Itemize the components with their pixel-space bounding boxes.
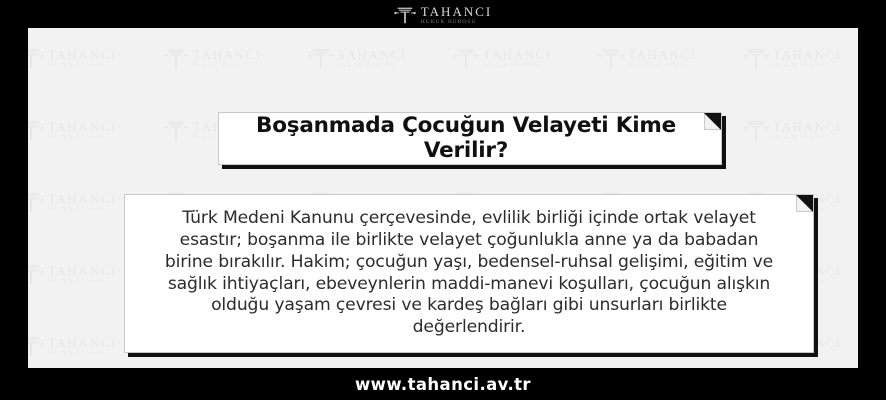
watermark-wordmark: TAHANCIHUKUK BÜROSU bbox=[48, 192, 117, 213]
watermark-subtitle: HUKUK BÜROSU bbox=[483, 63, 552, 69]
watermark-name: TAHANCI bbox=[48, 336, 117, 349]
watermark-subtitle: HUKUK BÜROSU bbox=[628, 63, 697, 69]
law-pillar-icon bbox=[28, 333, 44, 359]
brand-wordmark: TAHANCI HUKUK BÜROSU bbox=[421, 5, 492, 25]
watermark-wordmark: TAHANCIHUKUK BÜROSU bbox=[48, 120, 117, 141]
watermark-subtitle: HUKUK BÜROSU bbox=[48, 63, 117, 69]
brand-subtitle: HUKUK BÜROSU bbox=[421, 20, 477, 26]
law-pillar-icon bbox=[743, 117, 769, 143]
watermark-tile: TAHANCIHUKUK BÜROSU bbox=[28, 45, 163, 71]
watermark-wordmark: TAHANCIHUKUK BÜROSU bbox=[48, 264, 117, 285]
law-pillar-icon bbox=[163, 45, 189, 71]
watermark-tile: TAHANCIHUKUK BÜROSU bbox=[28, 117, 163, 143]
page-fold-triangle-icon bbox=[796, 195, 813, 212]
watermark-subtitle: HUKUK BÜROSU bbox=[338, 63, 407, 69]
watermark-subtitle: HUKUK BÜROSU bbox=[773, 63, 842, 69]
poster-canvas: TAHANCI HUKUK BÜROSU TAHANCIHUKUK BÜROSU… bbox=[0, 0, 886, 400]
watermark-wordmark: TAHANCIHUKUK BÜROSU bbox=[193, 48, 262, 69]
watermark-name: TAHANCI bbox=[48, 192, 117, 205]
law-pillar-icon bbox=[28, 189, 44, 215]
watermark-name: TAHANCI bbox=[48, 48, 117, 61]
watermark-wordmark: TAHANCIHUKUK BÜROSU bbox=[338, 48, 407, 69]
law-pillar-icon bbox=[28, 117, 44, 143]
watermark-subtitle: HUKUK BÜROSU bbox=[48, 279, 117, 285]
watermark-subtitle: HUKUK BÜROSU bbox=[773, 135, 842, 141]
header-bar: TAHANCI HUKUK BÜROSU bbox=[0, 0, 886, 28]
watermark-tile: TAHANCIHUKUK BÜROSU bbox=[598, 45, 743, 71]
law-pillar-icon bbox=[394, 4, 416, 26]
page-fold-triangle-icon bbox=[704, 113, 721, 130]
watermark-name: TAHANCI bbox=[773, 120, 842, 133]
watermark-name: TAHANCI bbox=[48, 264, 117, 277]
website-url: www.tahanci.av.tr bbox=[355, 375, 531, 394]
watermark-subtitle: HUKUK BÜROSU bbox=[48, 135, 117, 141]
watermark-tile: TAHANCIHUKUK BÜROSU bbox=[743, 45, 858, 71]
watermark-subtitle: HUKUK BÜROSU bbox=[193, 63, 262, 69]
content-stage: TAHANCIHUKUK BÜROSUTAHANCIHUKUK BÜROSUTA… bbox=[28, 28, 858, 368]
brand-logo: TAHANCI HUKUK BÜROSU bbox=[394, 4, 492, 26]
law-pillar-icon bbox=[28, 45, 44, 71]
watermark-tile: TAHANCIHUKUK BÜROSU bbox=[308, 45, 453, 71]
watermark-name: TAHANCI bbox=[193, 48, 262, 61]
watermark-wordmark: TAHANCIHUKUK BÜROSU bbox=[48, 48, 117, 69]
watermark-tile: TAHANCIHUKUK BÜROSU bbox=[453, 45, 598, 71]
watermark-name: TAHANCI bbox=[773, 48, 842, 61]
watermark-tile: TAHANCIHUKUK BÜROSU bbox=[163, 45, 308, 71]
watermark-name: TAHANCI bbox=[338, 48, 407, 61]
body-card: Türk Medeni Kanunu çerçevesinde, evlilik… bbox=[124, 194, 814, 353]
watermark-subtitle: HUKUK BÜROSU bbox=[48, 207, 117, 213]
law-pillar-icon bbox=[308, 45, 334, 71]
watermark-wordmark: TAHANCIHUKUK BÜROSU bbox=[773, 120, 842, 141]
footer-bar: www.tahanci.av.tr bbox=[0, 368, 886, 400]
law-pillar-icon bbox=[163, 117, 189, 143]
watermark-name: TAHANCI bbox=[483, 48, 552, 61]
watermark-name: TAHANCI bbox=[628, 48, 697, 61]
watermark-subtitle: HUKUK BÜROSU bbox=[48, 351, 117, 357]
watermark-wordmark: TAHANCIHUKUK BÜROSU bbox=[628, 48, 697, 69]
body-paragraph: Türk Medeni Kanunu çerçevesinde, evlilik… bbox=[125, 208, 813, 339]
page-title: Boşanmada Çocuğun Velayeti Kime Verilir? bbox=[219, 114, 721, 162]
watermark-name: TAHANCI bbox=[48, 120, 117, 133]
law-pillar-icon bbox=[743, 45, 769, 71]
watermark-wordmark: TAHANCIHUKUK BÜROSU bbox=[483, 48, 552, 69]
watermark-tile: TAHANCIHUKUK BÜROSU bbox=[743, 117, 858, 143]
watermark-wordmark: TAHANCIHUKUK BÜROSU bbox=[48, 336, 117, 357]
law-pillar-icon bbox=[28, 261, 44, 287]
title-card: Boşanmada Çocuğun Velayeti Kime Verilir? bbox=[218, 112, 722, 165]
brand-name: TAHANCI bbox=[421, 5, 492, 18]
law-pillar-icon bbox=[598, 45, 624, 71]
watermark-wordmark: TAHANCIHUKUK BÜROSU bbox=[773, 48, 842, 69]
law-pillar-icon bbox=[453, 45, 479, 71]
